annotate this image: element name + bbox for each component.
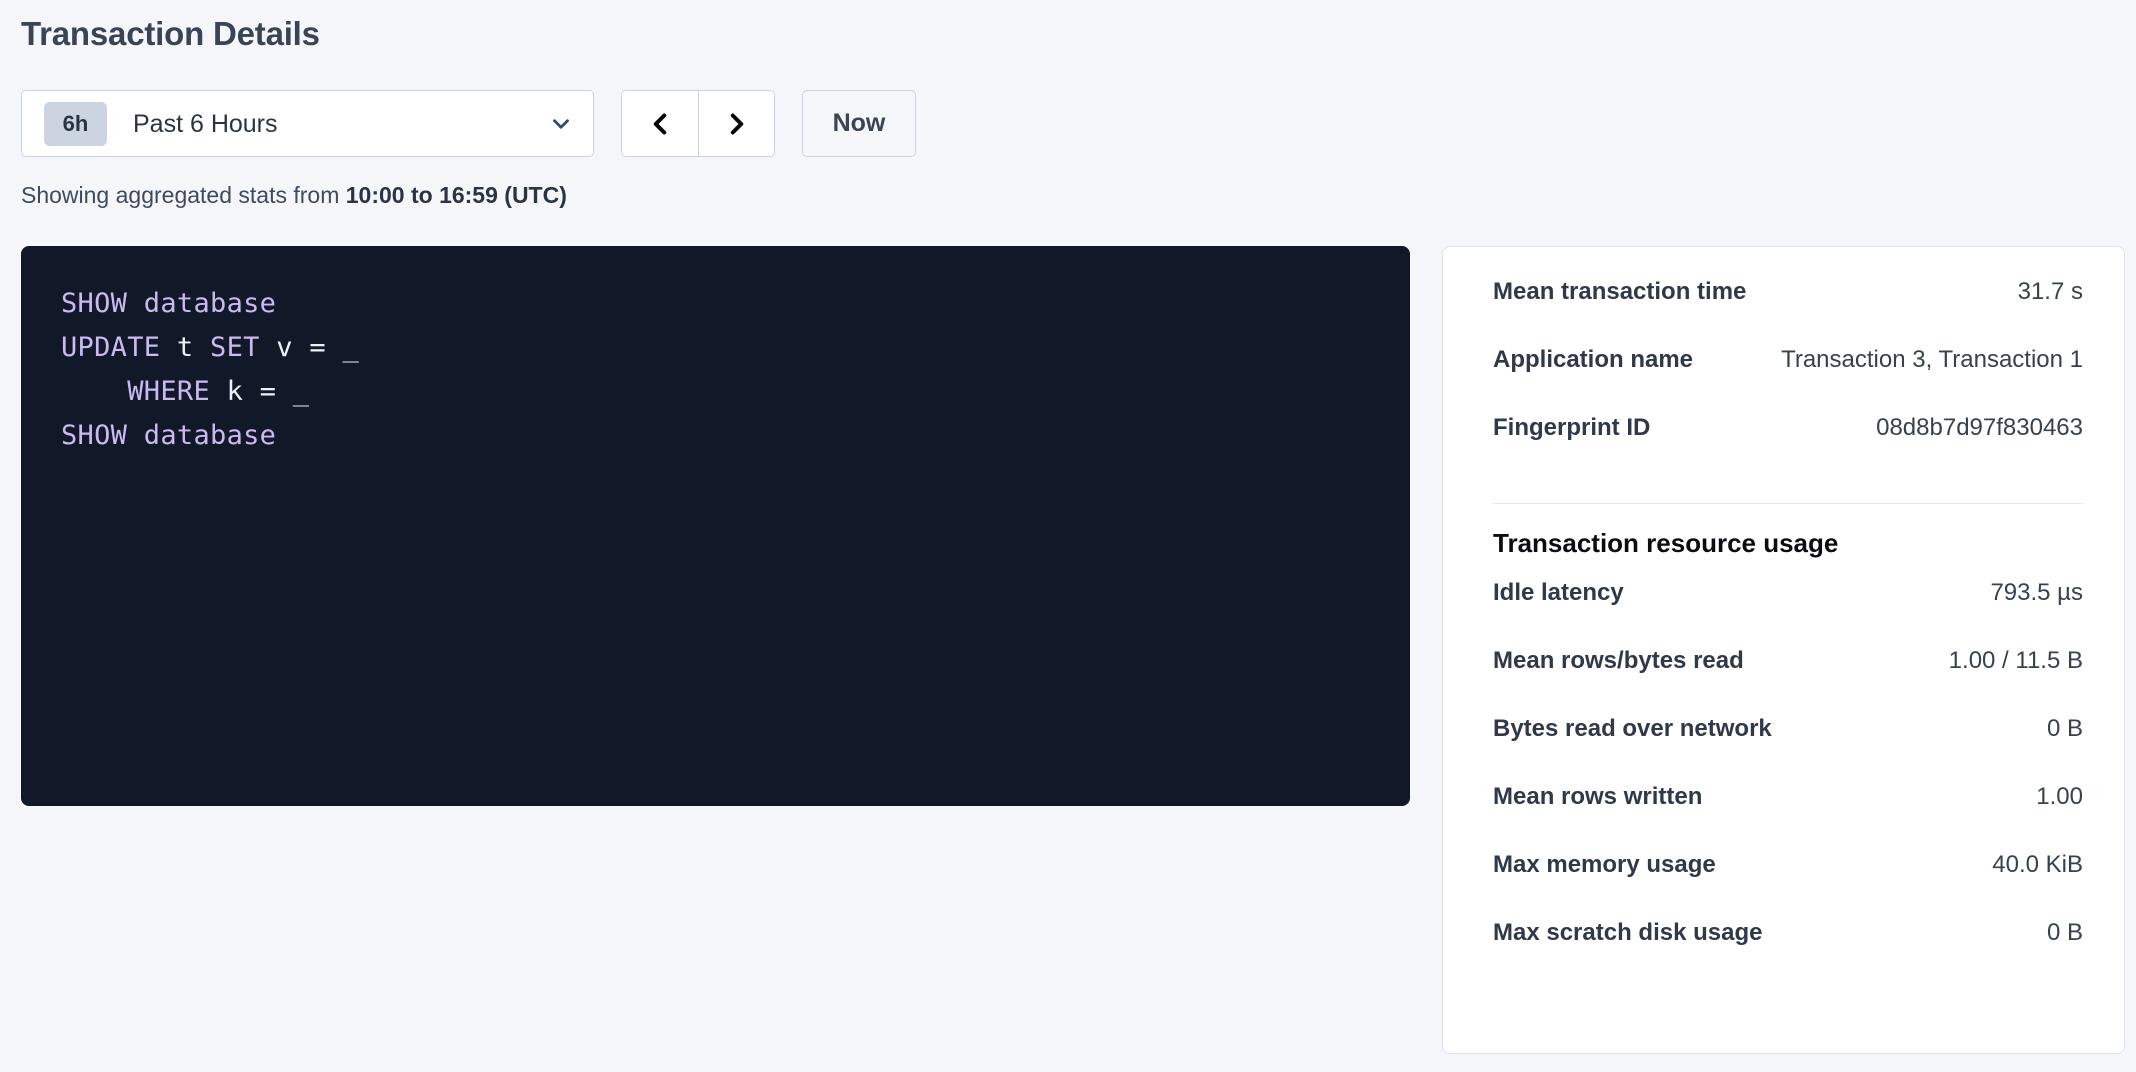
sql-keyword: database — [144, 288, 276, 319]
chevron-right-icon — [720, 107, 754, 141]
sql-identifier: v = _ — [260, 332, 359, 363]
aggregated-stats-prefix: Showing aggregated stats from — [21, 182, 346, 208]
detail-value: 31.7 s — [2018, 277, 2083, 307]
aggregated-stats-range: 10:00 to 16:59 (UTC) — [346, 182, 567, 208]
detail-label: Max scratch disk usage — [1493, 918, 1762, 948]
detail-label: Bytes read over network — [1493, 714, 1772, 744]
sql-identifier: k = _ — [210, 376, 309, 407]
detail-value: 1.00 — [2036, 782, 2083, 812]
chevron-left-icon — [643, 107, 677, 141]
detail-value: 0 B — [2047, 918, 2083, 948]
page-title: Transaction Details — [21, 14, 320, 54]
transaction-details-panel: Mean transaction time31.7 sApplication n… — [1442, 246, 2125, 1054]
transaction-resource-row: Mean rows/bytes read1.00 / 11.5 B — [1493, 646, 2083, 714]
transaction-details-page: Transaction Details 6h Past 6 Hours Now — [0, 0, 2136, 1072]
detail-label: Max memory usage — [1493, 850, 1716, 880]
time-range-select[interactable]: 6h Past 6 Hours — [21, 90, 594, 157]
sql-keyword: SET — [210, 332, 260, 363]
sql-keyword: WHERE — [127, 376, 210, 407]
time-range-toolbar: 6h Past 6 Hours Now — [21, 90, 916, 157]
sql-line: WHERE k = _ — [61, 370, 1370, 414]
detail-value: Transaction 3, Transaction 1 — [1781, 345, 2083, 375]
time-range-badge: 6h — [44, 102, 107, 146]
detail-value: 0 B — [2047, 714, 2083, 744]
detail-label: Mean rows written — [1493, 782, 1702, 812]
sql-line: SHOW database — [61, 282, 1370, 326]
transaction-resource-row: Max scratch disk usage0 B — [1493, 918, 2083, 986]
time-range-label: Past 6 Hours — [133, 109, 548, 139]
transaction-summary-row: Mean transaction time31.7 s — [1493, 277, 2083, 345]
detail-label: Mean rows/bytes read — [1493, 646, 1744, 676]
sql-identifier: t — [160, 332, 210, 363]
detail-value: 1.00 / 11.5 B — [1949, 646, 2083, 676]
transaction-resource-row: Mean rows written1.00 — [1493, 782, 2083, 850]
detail-label: Mean transaction time — [1493, 277, 1746, 307]
aggregated-stats-note: Showing aggregated stats from 10:00 to 1… — [21, 180, 567, 210]
transaction-resource-list: Idle latency793.5 µsMean rows/bytes read… — [1493, 578, 2083, 986]
sql-keyword: database — [144, 420, 276, 451]
next-range-button[interactable] — [698, 91, 774, 156]
transaction-resource-row: Max memory usage40.0 KiB — [1493, 850, 2083, 918]
sql-line: UPDATE t SET v = _ — [61, 326, 1370, 370]
time-nav-group — [621, 90, 775, 157]
detail-value: 08d8b7d97f830463 — [1876, 413, 2083, 443]
detail-label: Idle latency — [1493, 578, 1624, 608]
now-button[interactable]: Now — [802, 90, 916, 157]
transaction-summary-row: Application nameTransaction 3, Transacti… — [1493, 345, 2083, 413]
sql-line: SHOW database — [61, 414, 1370, 458]
sql-statement-text: SHOW databaseUPDATE t SET v = _ WHERE k … — [61, 282, 1370, 458]
transaction-summary-row: Fingerprint ID08d8b7d97f830463 — [1493, 413, 2083, 481]
sql-identifier — [127, 420, 144, 451]
transaction-resource-row: Idle latency793.5 µs — [1493, 578, 2083, 646]
sql-identifier — [127, 288, 144, 319]
sql-statement-card[interactable]: SHOW databaseUPDATE t SET v = _ WHERE k … — [21, 246, 1410, 806]
sql-keyword: SHOW — [61, 420, 127, 451]
detail-label: Fingerprint ID — [1493, 413, 1650, 443]
detail-value: 40.0 KiB — [1992, 850, 2083, 880]
resource-usage-heading: Transaction resource usage — [1493, 520, 2083, 578]
transaction-resource-row: Bytes read over network0 B — [1493, 714, 2083, 782]
sql-keyword: SHOW — [61, 288, 127, 319]
detail-value: 793.5 µs — [1990, 578, 2083, 608]
sql-identifier — [61, 376, 127, 407]
transaction-summary-list: Mean transaction time31.7 sApplication n… — [1493, 277, 2083, 481]
section-divider — [1493, 503, 2083, 504]
sql-keyword: UPDATE — [61, 332, 160, 363]
previous-range-button[interactable] — [622, 91, 698, 156]
detail-label: Application name — [1493, 345, 1693, 375]
chevron-down-icon — [548, 111, 574, 137]
